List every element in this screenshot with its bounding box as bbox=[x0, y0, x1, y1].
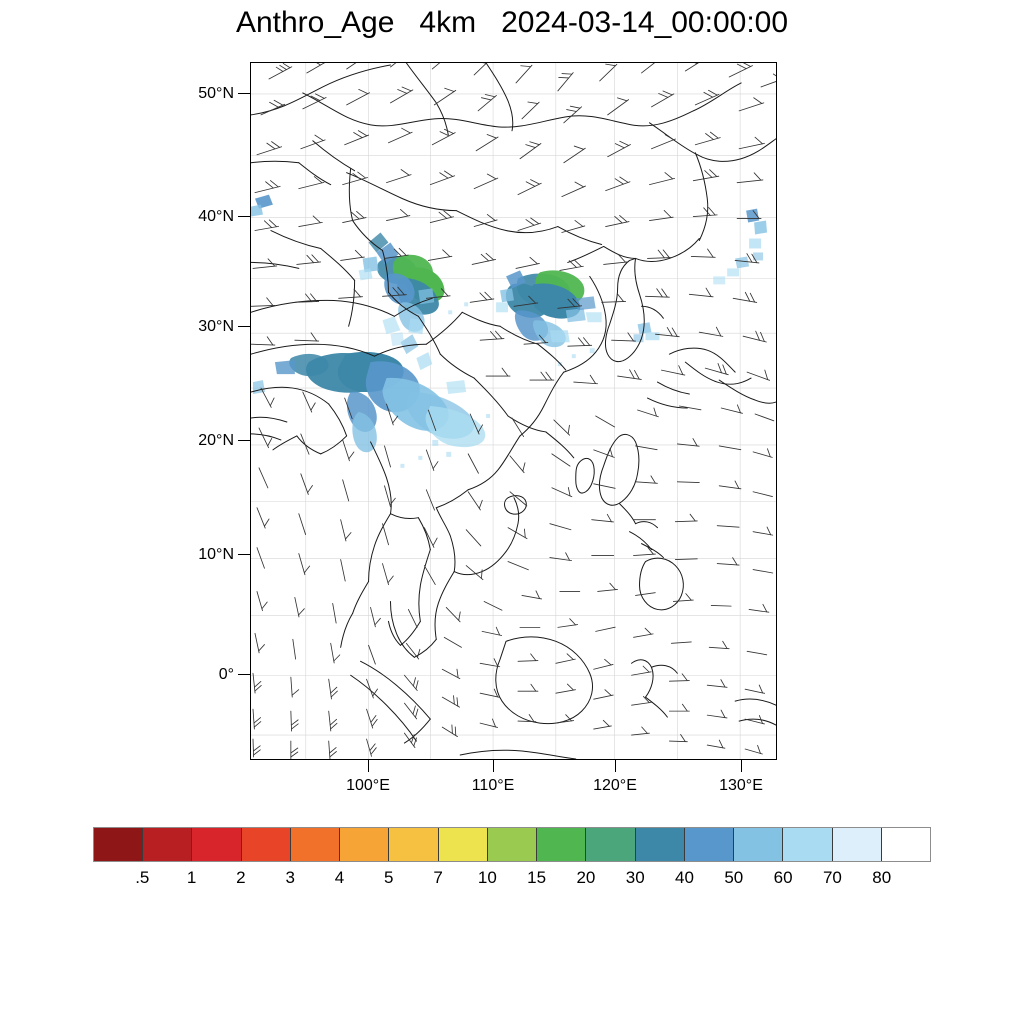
colorbar-cell-5[interactable] bbox=[340, 828, 389, 861]
map-canvas bbox=[251, 63, 776, 759]
wind-barb-overlay bbox=[251, 63, 776, 759]
y-tick-mark bbox=[238, 674, 250, 675]
colorbar-cell-4[interactable] bbox=[291, 828, 340, 861]
wind-barbs-subtropical bbox=[257, 385, 774, 585]
x-tick-mark bbox=[368, 760, 369, 772]
colorbar-cell-15[interactable] bbox=[833, 828, 882, 861]
colorbar-cell-6[interactable] bbox=[389, 828, 438, 861]
y-tick-mark bbox=[238, 93, 250, 94]
patch-northwest bbox=[251, 195, 273, 394]
colorbar-cell-12[interactable] bbox=[685, 828, 734, 861]
y-tick-label: 0° bbox=[34, 666, 234, 684]
y-tick-label: 30°N bbox=[34, 318, 234, 336]
y-tick-label: 20°N bbox=[34, 432, 234, 450]
y-tick-mark bbox=[238, 554, 250, 555]
y-tick-mark bbox=[238, 440, 250, 441]
colorbar-cell-8[interactable] bbox=[488, 828, 537, 861]
colorbar-cell-7[interactable] bbox=[439, 828, 488, 861]
page-title: Anthro_Age 4km 2024-03-14_00:00:00 bbox=[0, 6, 1024, 40]
colorbar-cell-9[interactable] bbox=[537, 828, 586, 861]
coastlines-and-borders bbox=[251, 63, 776, 759]
colorbar-cell-14[interactable] bbox=[783, 828, 832, 861]
x-tick-label: 110°E bbox=[433, 777, 553, 795]
y-tick-label: 40°N bbox=[34, 208, 234, 226]
x-tick-label: 120°E bbox=[555, 777, 675, 795]
plume-east-china bbox=[496, 270, 602, 347]
colorbar-cells[interactable] bbox=[93, 827, 931, 862]
x-tick-mark bbox=[615, 760, 616, 772]
y-tick-mark bbox=[238, 326, 250, 327]
concentration-field bbox=[251, 195, 767, 468]
colorbar-cell-2[interactable] bbox=[192, 828, 241, 861]
scattered-cells bbox=[400, 302, 594, 468]
map-plot-area[interactable] bbox=[250, 62, 777, 760]
colorbar-cell-13[interactable] bbox=[734, 828, 783, 861]
y-tick-mark bbox=[238, 216, 250, 217]
plume-southwest-china bbox=[275, 334, 485, 452]
colorbar-cell-1[interactable] bbox=[143, 828, 192, 861]
patch-korea bbox=[634, 322, 660, 342]
graticule bbox=[251, 63, 776, 759]
x-tick-label: 130°E bbox=[681, 777, 801, 795]
colorbar-cell-16[interactable] bbox=[882, 828, 930, 861]
x-tick-mark bbox=[493, 760, 494, 772]
colorbar[interactable] bbox=[93, 827, 931, 862]
y-tick-label: 10°N bbox=[34, 546, 234, 564]
colorbar-cell-3[interactable] bbox=[242, 828, 291, 861]
wind-barbs-equatorial bbox=[253, 582, 770, 759]
colorbar-tick-label: 80 bbox=[842, 868, 922, 888]
colorbar-cell-10[interactable] bbox=[586, 828, 635, 861]
y-tick-label: 50°N bbox=[34, 85, 234, 103]
colorbar-cell-11[interactable] bbox=[636, 828, 685, 861]
x-tick-mark bbox=[741, 760, 742, 772]
plume-central-china bbox=[359, 233, 445, 347]
x-tick-label: 100°E bbox=[308, 777, 428, 795]
colorbar-cell-0[interactable] bbox=[94, 828, 143, 861]
